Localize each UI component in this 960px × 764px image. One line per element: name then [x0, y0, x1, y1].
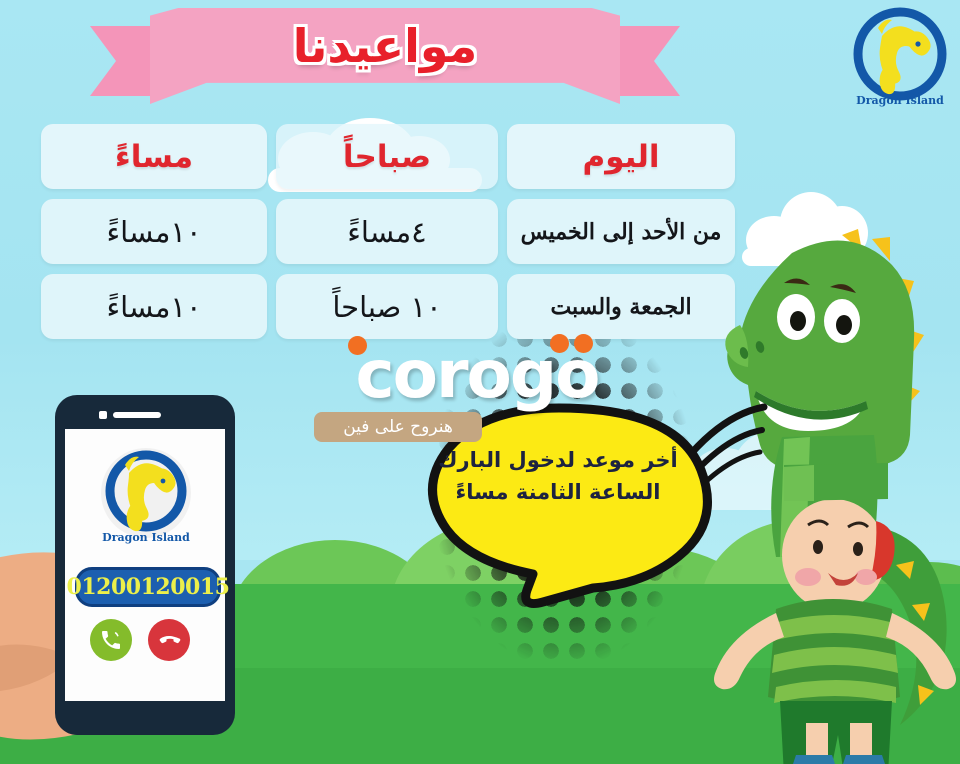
- banner: مواعيدنا: [150, 8, 620, 116]
- notice-text: أخر موعد لدخول البارك الساعة الثامنة مسا…: [422, 444, 694, 508]
- cell-evening: ١٠مساءً: [41, 274, 267, 339]
- svg-text:Dragon Island: Dragon Island: [102, 531, 190, 544]
- header-morning-label: صباحاً: [343, 139, 431, 175]
- opening-hours-poster: مواعيدنا Dragon Island اليوم صباحاً: [0, 0, 960, 764]
- cell-evening: ١٠مساءً: [41, 199, 267, 264]
- phone-camera-icon: [99, 411, 107, 419]
- cell-day-value: الجمعة والسبت: [550, 294, 691, 320]
- cell-morning: ٤مساءً: [276, 199, 498, 264]
- page-title: مواعيدنا: [150, 14, 620, 78]
- dragon-island-logo-icon: Dragon Island: [91, 441, 201, 551]
- phone-number-display: 01200120015: [75, 567, 221, 607]
- phone-speaker-icon: [113, 412, 161, 418]
- header-evening-label: مساءً: [115, 139, 193, 175]
- header-cell-day: اليوم: [507, 124, 735, 189]
- watermark-tagline-badge: هنروح على فين: [314, 412, 482, 442]
- cell-morning-value: ١٠ صباحاً: [332, 290, 441, 324]
- table-row: الجمعة والسبت ١٠ صباحاً ١٠مساءً: [41, 274, 735, 339]
- cell-morning: ١٠ صباحاً: [276, 274, 498, 339]
- watermark-tagline: هنروح على فين: [343, 417, 453, 437]
- phone-answer-icon[interactable]: [90, 619, 132, 661]
- header-day-label: اليوم: [582, 139, 659, 175]
- cell-evening-value: ١٠مساءً: [106, 290, 201, 324]
- watermark-dot-icon: [550, 334, 569, 353]
- schedule-table: اليوم صباحاً مساءً من الأحد إلى الخميس ٤…: [41, 124, 735, 349]
- watermark: corogo هنروح على فين: [312, 340, 642, 450]
- phone-mockup: Dragon Island 01200120015: [55, 395, 235, 735]
- cell-day-value: من الأحد إلى الخميس: [521, 219, 722, 245]
- notice-line-2: الساعة الثامنة مساءً: [422, 476, 694, 508]
- table-row: من الأحد إلى الخميس ٤مساءً ١٠مساءً: [41, 199, 735, 264]
- cell-morning-value: ٤مساءً: [347, 215, 426, 249]
- watermark-dot-icon: [348, 336, 367, 355]
- svg-text:Dragon Island: Dragon Island: [856, 94, 944, 107]
- phone-screen: Dragon Island 01200120015: [65, 429, 225, 701]
- header-cell-evening: مساءً: [41, 124, 267, 189]
- dragon-island-logo-icon: Dragon Island: [848, 6, 952, 110]
- header-cell-morning: صباحاً: [276, 124, 498, 189]
- watermark-dot-icon: [574, 334, 593, 353]
- cell-evening-value: ١٠مساءً: [106, 215, 201, 249]
- phone-decline-icon[interactable]: [148, 619, 190, 661]
- table-header-row: اليوم صباحاً مساءً: [41, 124, 735, 189]
